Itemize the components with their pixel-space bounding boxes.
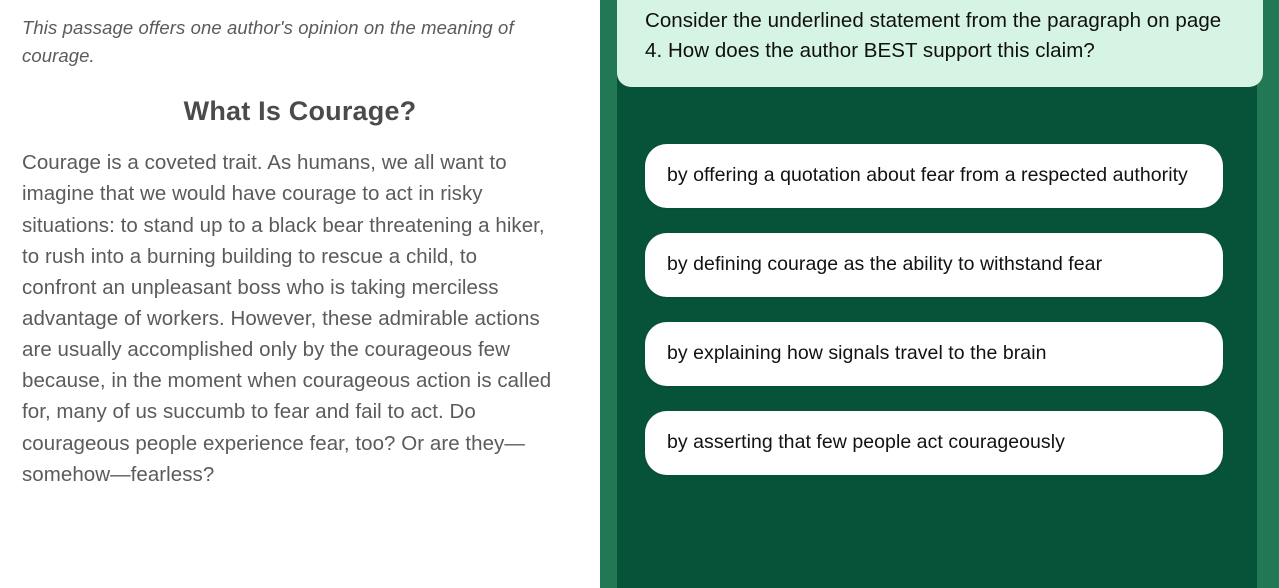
passage-intro: This passage offers one author's opinion… [22,14,578,70]
answer-option-3-label: by explaining how signals travel to the … [667,340,1046,368]
answer-option-2-label: by defining courage as the ability to wi… [667,251,1102,279]
answer-options-list: by offering a quotation about fear from … [645,144,1223,475]
answer-option-1[interactable]: by offering a quotation about fear from … [645,144,1223,208]
assessment-screen: This passage offers one author's opinion… [0,0,1279,588]
question-pane: Consider the underlined statement from t… [600,0,1279,588]
question-panel-inner: Consider the underlined statement from t… [617,0,1257,588]
question-prompt-text: Consider the underlined statement from t… [645,6,1237,65]
answer-option-4-label: by asserting that few people act courage… [667,429,1065,457]
answer-option-1-label: by offering a quotation about fear from … [667,162,1188,190]
passage-title: What Is Courage? [22,96,578,127]
answer-option-2[interactable]: by defining courage as the ability to wi… [645,233,1223,297]
passage-pane: This passage offers one author's opinion… [0,0,600,588]
question-prompt-card: Consider the underlined statement from t… [617,0,1263,87]
passage-body: Courage is a coveted trait. As humans, w… [22,147,552,490]
answer-option-3[interactable]: by explaining how signals travel to the … [645,322,1223,386]
answer-option-4[interactable]: by asserting that few people act courage… [645,411,1223,475]
